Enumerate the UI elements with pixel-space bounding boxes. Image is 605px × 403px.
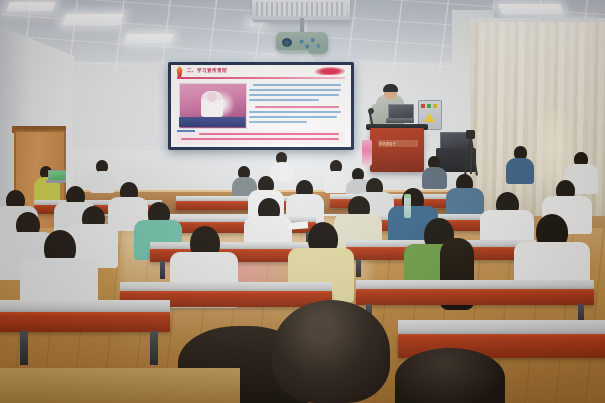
slide-body-line bbox=[249, 99, 319, 101]
slide-body-line bbox=[249, 89, 341, 91]
slide-body-line bbox=[249, 116, 337, 118]
handout-paper[interactable] bbox=[288, 221, 308, 229]
air-conditioner-vents bbox=[256, 2, 346, 16]
water-bottle-cap bbox=[404, 194, 411, 198]
slide-photo-face bbox=[207, 92, 217, 102]
projected-slide: 二、学习宣传贯彻 bbox=[171, 65, 351, 147]
slide-footer-line bbox=[199, 133, 339, 135]
foreground-attendee-head bbox=[272, 300, 390, 403]
desk-surface bbox=[398, 320, 605, 335]
attendee-body bbox=[506, 158, 534, 184]
lectern-podium bbox=[370, 128, 424, 172]
ceiling-light-panel bbox=[498, 4, 564, 14]
control-panel-indicator-lights bbox=[421, 104, 437, 108]
slide-title-underline bbox=[177, 77, 345, 79]
flower-vase bbox=[362, 140, 372, 166]
attendee-body bbox=[90, 171, 115, 193]
water-bottle[interactable] bbox=[404, 196, 411, 218]
desk-leg bbox=[20, 331, 28, 365]
podium-plaque-text: 学术报告厅 bbox=[379, 141, 417, 146]
podium-laptop-base bbox=[386, 118, 414, 123]
foreground-attendee-head bbox=[395, 348, 505, 403]
slide-footer-bar bbox=[177, 130, 195, 132]
slide-photo-desk bbox=[179, 117, 245, 127]
attendee-body bbox=[271, 162, 293, 182]
desk-leg bbox=[160, 261, 165, 279]
classroom-photo-scene: 二、学习宣传贯彻 学术报告厅 bbox=[0, 0, 605, 403]
slide-body-line bbox=[249, 111, 341, 113]
red-ribbon-graphic-icon bbox=[314, 67, 346, 75]
audience-laptop-base bbox=[46, 180, 66, 183]
ceiling-light-panel bbox=[6, 2, 56, 11]
ceiling-light-panel bbox=[62, 14, 124, 25]
ceiling-light-panel bbox=[125, 34, 174, 43]
slide-footer-line bbox=[181, 138, 339, 140]
slide-title: 二、学习宣传贯彻 bbox=[187, 68, 282, 77]
desk-leg bbox=[356, 259, 361, 277]
tripod-leg bbox=[470, 138, 472, 174]
camera-tripod-head-icon bbox=[466, 130, 475, 139]
desk-leg bbox=[150, 331, 158, 365]
foreground-desk-edge bbox=[0, 368, 240, 403]
slide-body-line bbox=[249, 94, 339, 96]
presenter-hair bbox=[383, 84, 398, 92]
attendee-body bbox=[422, 167, 447, 189]
desk-front-panel bbox=[0, 312, 170, 332]
desk-front-panel bbox=[356, 289, 594, 305]
slide-body-line-accent bbox=[255, 106, 339, 108]
slide-body-line bbox=[249, 121, 307, 123]
slide-body-line bbox=[253, 84, 341, 86]
